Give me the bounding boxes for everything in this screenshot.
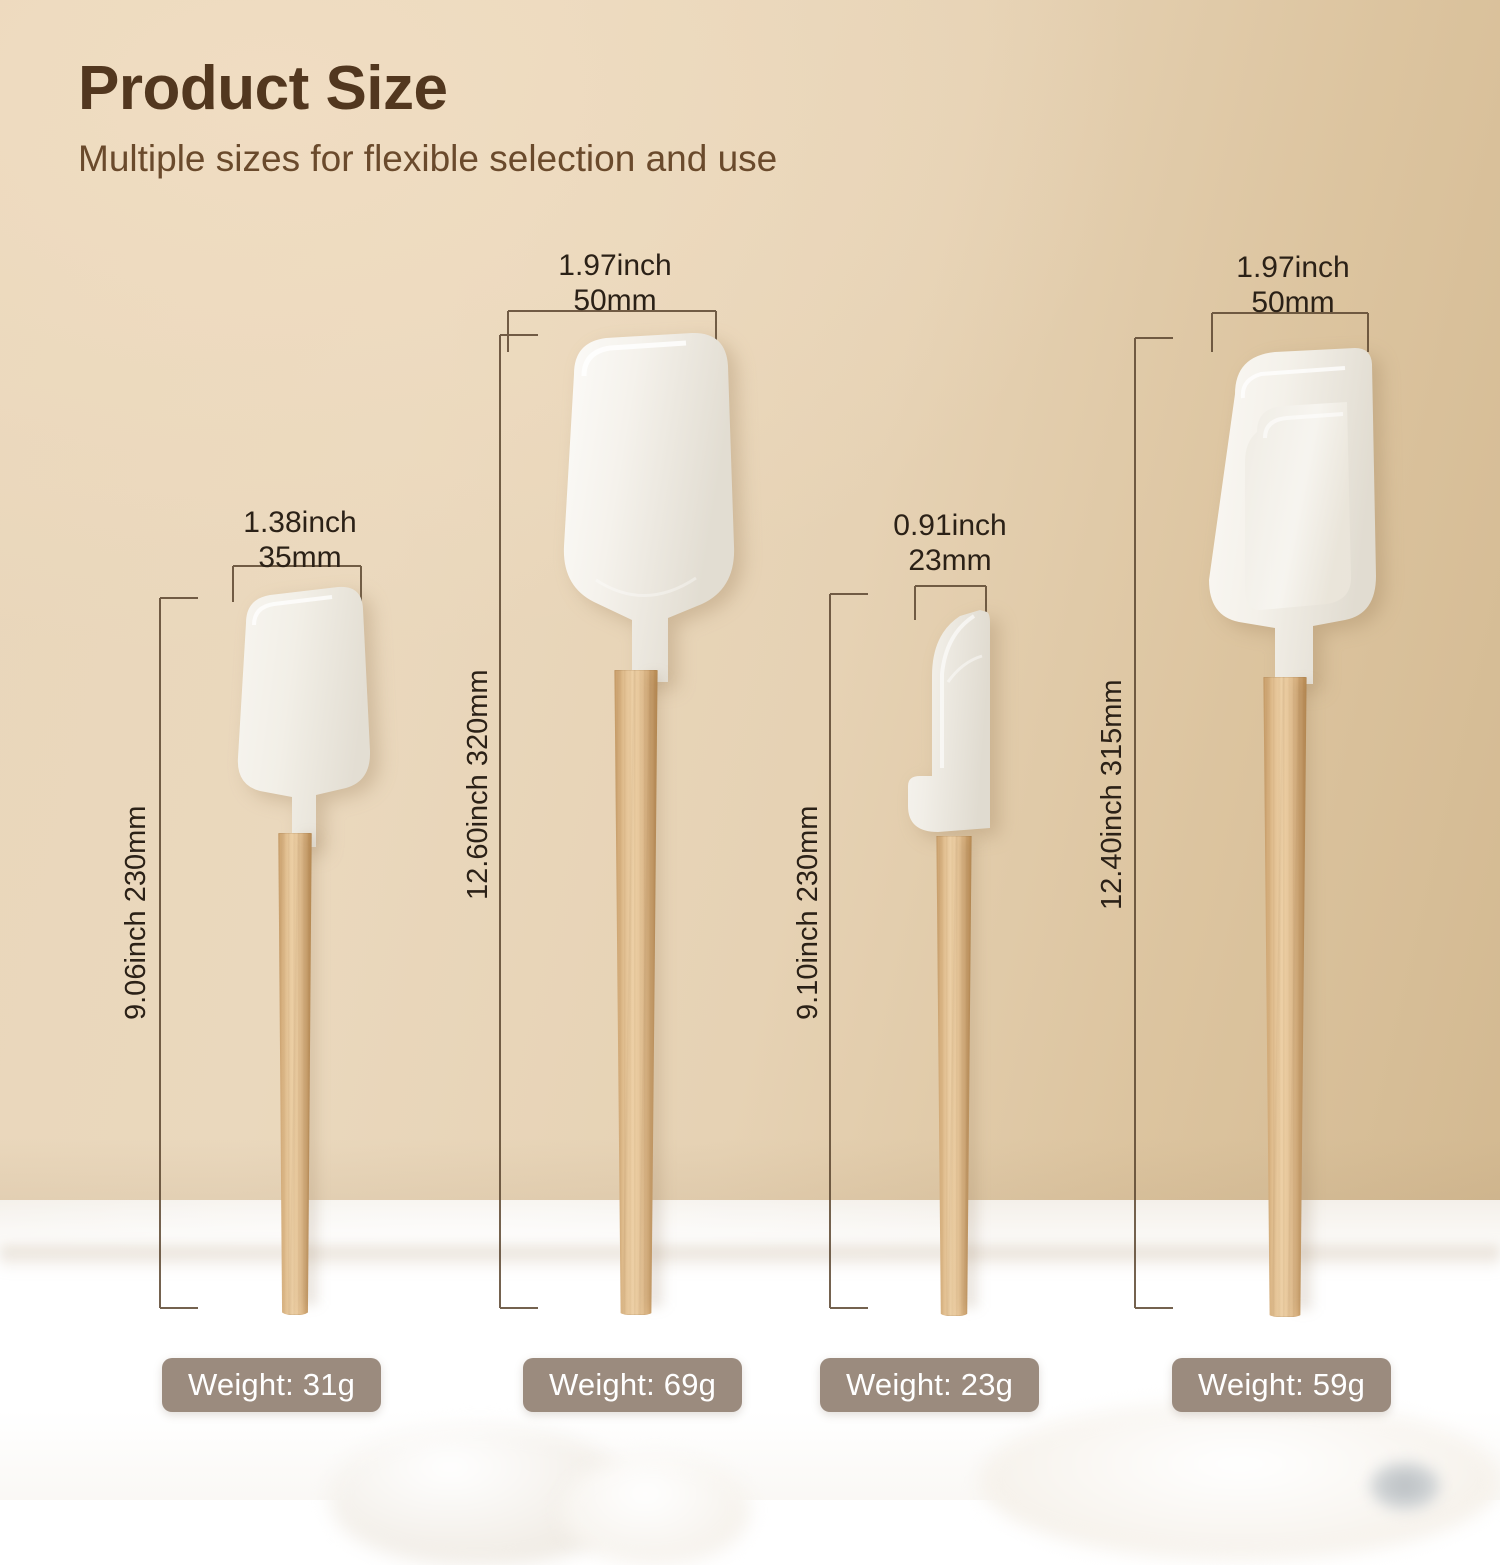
p1-height-bracket [160,598,198,1308]
product-large-scoop-spatula[interactable] [1195,332,1400,1317]
p1-height-label: 9.06inch 230mm [120,806,153,1020]
large-spoonula-head [540,330,750,690]
product-large-spoonula[interactable] [540,330,750,1315]
product-narrow-jar-spatula[interactable] [890,600,1015,1315]
p4-height-label: 12.40inch 315mm [1096,679,1129,910]
p2-height-bracket [500,335,538,1308]
p1-width-label: 1.38inch35mm [180,505,420,575]
narrow-jar-spatula-head [890,600,1015,850]
p4-weight-badge: Weight: 59g [1172,1358,1391,1412]
p3-width-label: 0.91inch23mm [835,508,1065,578]
p1-weight-badge: Weight: 31g [162,1358,381,1412]
p4-width-label: 1.97inch50mm [1168,250,1418,320]
p3-height-label: 9.10inch 230mm [792,806,825,1020]
p3-weight-badge: Weight: 23g [820,1358,1039,1412]
small-spatula-head [220,585,390,855]
p2-height-label: 12.60inch 320mm [462,669,495,900]
p4-height-bracket [1135,338,1173,1308]
p2-width-label: 1.97inch50mm [490,248,740,318]
p3-height-bracket [830,594,868,1308]
p2-weight-badge: Weight: 69g [523,1358,742,1412]
large-scoop-spatula-head [1195,332,1400,702]
product-small-spatula[interactable] [220,585,390,1315]
